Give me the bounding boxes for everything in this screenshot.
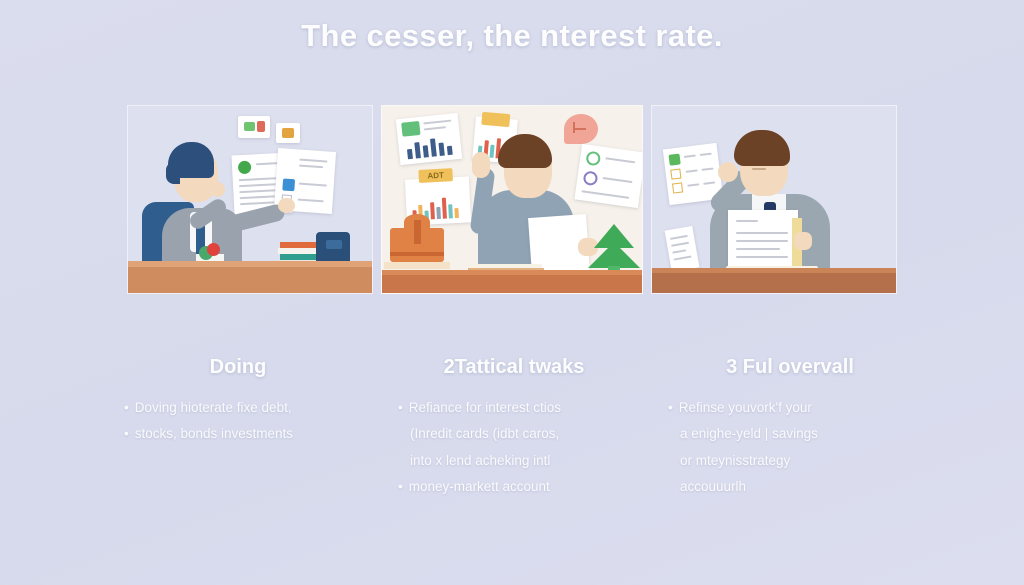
illustration-panel-one (127, 105, 373, 294)
text-column-one: Doing • Doving hioterate fixe debt, • st… (110, 356, 366, 500)
list-item-continuation: into x lend acheking intl (386, 448, 642, 474)
list-item-continuation: accouuurlh (662, 474, 918, 500)
list-item: • stocks, bonds investments (110, 421, 366, 447)
list-item: • money-markett account (386, 474, 642, 500)
list-item-label: Refinse youvork'f your (679, 395, 918, 421)
gift-box-icon (390, 228, 444, 262)
slide-canvas: The cesser, the nterest rate. (0, 0, 1024, 585)
bullet-dot-icon: • (124, 395, 129, 421)
list-item-label: Refiance for interest ctios (409, 395, 642, 421)
text-column-two: 2Tattical twaks • Refiance for interest … (386, 356, 642, 500)
list-item-continuation: or mteynisstrategy (662, 448, 918, 474)
illustration-panel-two: ADT (381, 105, 643, 294)
figure-hair (734, 130, 790, 166)
document-right (574, 144, 643, 208)
bullet-dot-icon: • (124, 421, 129, 447)
sticky-card-b (276, 123, 300, 143)
propped-note (665, 226, 700, 272)
illustration-panel-three (651, 105, 897, 294)
list-item-label: stocks, bonds investments (135, 421, 366, 447)
chart-card-one (396, 113, 462, 165)
list-item-continuation: a enighe-yeld | savings (662, 421, 918, 447)
list-item: • Refinse youvork'f your (662, 395, 918, 421)
card-tag-label: ADT (418, 168, 453, 183)
column-two-heading: 2Tattical twaks (386, 356, 642, 379)
list-item: • Doving hioterate fixe debt, (110, 395, 366, 421)
clock-bubble-icon (564, 114, 598, 144)
column-one-heading: Doing (110, 356, 366, 379)
list-item-label: money-markett account (409, 474, 642, 500)
text-columns: Doing • Doving hioterate fixe debt, • st… (110, 356, 920, 500)
list-item: • Refiance for interest ctios (386, 395, 642, 421)
column-three-heading: 3 Ful overvall (662, 356, 918, 379)
list-item-continuation: (Inredit cards (idbt caros, (386, 421, 642, 447)
illustration-row: ADT (127, 105, 897, 294)
bullet-dot-icon: • (398, 395, 403, 421)
sticky-card-a (238, 116, 270, 138)
held-document (728, 210, 798, 272)
bullet-dot-icon: • (668, 395, 673, 421)
bullet-dot-icon: • (398, 474, 403, 500)
text-column-three: 3 Ful overvall • Refinse youvork'f your … (662, 356, 918, 500)
page-title: The cesser, the nterest rate. (0, 18, 1024, 54)
list-item-label: Doving hioterate fixe debt, (135, 395, 366, 421)
